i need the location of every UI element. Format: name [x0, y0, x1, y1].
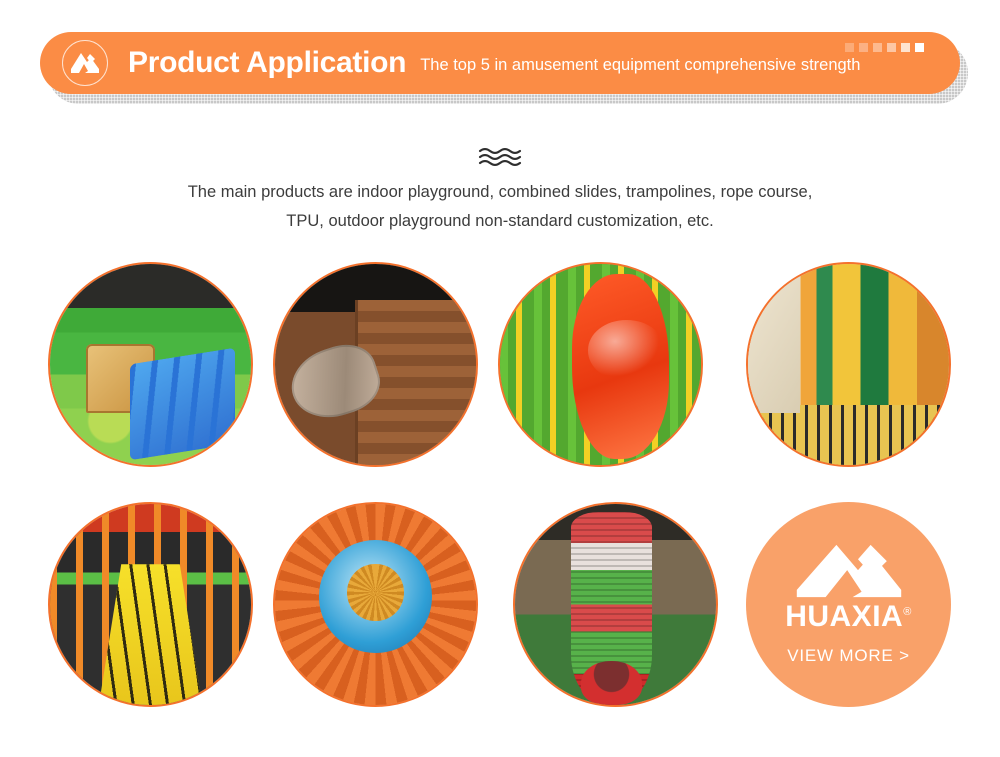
- gallery-image-3: [500, 264, 701, 465]
- gallery-image-5: [50, 504, 251, 705]
- product-gallery-grid: HUAXIA® VIEW MORE >: [0, 0, 1000, 757]
- gallery-image-7: [515, 504, 716, 705]
- view-more-label: VIEW MORE >: [787, 646, 910, 666]
- gallery-item-4[interactable]: [746, 262, 951, 467]
- gallery-image-6: [275, 504, 476, 705]
- gallery-image-2: [275, 264, 476, 465]
- gallery-image-1: [50, 264, 251, 465]
- gallery-item-5[interactable]: [48, 502, 253, 707]
- gallery-item-1[interactable]: [48, 262, 253, 467]
- brand-name: HUAXIA®: [785, 602, 912, 632]
- product-application-page: Product Application The top 5 in amuseme…: [0, 0, 1000, 757]
- gallery-item-2[interactable]: [273, 262, 478, 467]
- gallery-item-6[interactable]: [273, 502, 478, 707]
- registered-mark-icon: ®: [903, 606, 912, 618]
- gallery-item-3[interactable]: [498, 262, 703, 467]
- gallery-image-4: [748, 264, 949, 465]
- huaxia-mountain-logo-icon: [795, 543, 903, 604]
- brand-name-text: HUAXIA: [785, 600, 903, 633]
- gallery-item-7[interactable]: [513, 502, 718, 707]
- view-more-button[interactable]: HUAXIA® VIEW MORE >: [746, 502, 951, 707]
